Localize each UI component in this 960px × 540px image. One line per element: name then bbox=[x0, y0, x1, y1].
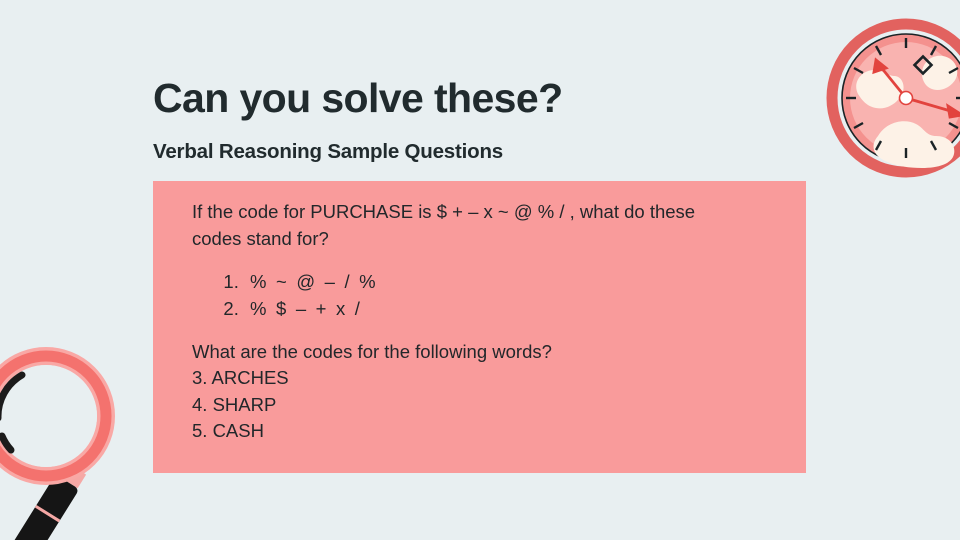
magnifying-glass-icon bbox=[0, 346, 162, 540]
slide-canvas: Can you solve these? Verbal Reasoning Sa… bbox=[0, 0, 960, 540]
question-intro-text: If the code for PURCHASE is $ + – x ~ @ … bbox=[192, 199, 737, 252]
word-item-5: 5. CASH bbox=[192, 418, 790, 444]
question-panel-content: If the code for PURCHASE is $ + – x ~ @ … bbox=[192, 199, 790, 444]
question-panel: If the code for PURCHASE is $ + – x ~ @ … bbox=[153, 181, 806, 473]
page-title: Can you solve these? bbox=[153, 76, 563, 121]
panel-spacer-1 bbox=[192, 252, 790, 269]
code-answer-list: % ~ @ – / % % $ – + x / bbox=[192, 269, 790, 322]
code-item-1: % ~ @ – / % bbox=[250, 271, 378, 292]
list-item: % $ – + x / bbox=[244, 296, 790, 322]
code-item-2: % $ – + x / bbox=[250, 298, 362, 319]
second-prompt-text: What are the codes for the following wor… bbox=[192, 339, 737, 366]
word-item-4: 4. SHARP bbox=[192, 392, 790, 418]
clock-icon bbox=[824, 16, 960, 186]
page-subtitle: Verbal Reasoning Sample Questions bbox=[153, 140, 503, 165]
word-item-3: 3. ARCHES bbox=[192, 365, 790, 391]
panel-spacer-2 bbox=[192, 322, 790, 339]
list-item: % ~ @ – / % bbox=[244, 269, 790, 295]
